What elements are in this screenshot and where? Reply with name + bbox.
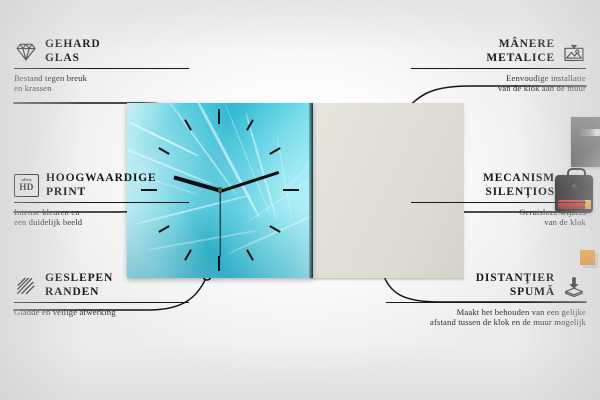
feature-heading: MECANISM SILENŢIOS <box>411 172 586 199</box>
hanger-slot <box>580 129 600 136</box>
feature-subtitle-line2: van de klok aan de muur <box>411 83 586 94</box>
feature-title-line1: GEHARD <box>45 38 101 52</box>
clock-right-edge <box>309 103 313 278</box>
feature-divider <box>411 202 586 203</box>
polished-edges-icon <box>14 275 38 297</box>
feature-subtitle-line2: en krassen <box>14 83 189 94</box>
feature-subtitle-line2: een duidelijk beeld <box>14 217 189 228</box>
feature-title-line2: GLAS <box>45 52 101 66</box>
gear-icon <box>562 175 586 197</box>
feature-title-line1: DISTANŢIER <box>476 272 555 286</box>
feature-subtitle-line1: Eenvoudige installatie <box>411 73 586 84</box>
feature-title-line2: PRINT <box>46 186 157 200</box>
feature-title-line1: GESLEPEN <box>45 272 113 286</box>
feature-heading: GESLEPEN RANDEN <box>14 272 189 299</box>
feature-subtitle-line1: Maakt het behouden van een gelijke <box>386 307 586 318</box>
feature-manere-metalice: MÂNERE METALICE Eenvoudige installatie v… <box>411 38 586 94</box>
picture-frame-hanging-icon <box>562 41 586 63</box>
ultra-hd-icon: ultra HD <box>14 174 39 197</box>
feature-subtitle-line1: Geruisloze wijzers <box>411 207 586 218</box>
feature-gehard-glas: GEHARD GLAS Bestand tegen breuk en krass… <box>14 38 189 94</box>
ultra-hd-icon-bottom: HD <box>19 183 33 192</box>
diamond-icon <box>14 41 38 63</box>
feature-hoogwaardige-print: ultra HD HOOGWAARDIGE PRINT Intense kleu… <box>14 172 189 228</box>
feature-subtitle-line1: Intense kleuren en <box>14 207 189 218</box>
feature-divider <box>14 302 189 303</box>
feature-title-line1: HOOGWAARDIGE <box>46 172 157 186</box>
metal-hanger-part <box>571 117 600 167</box>
feature-divider <box>411 68 586 69</box>
feature-geslepen-randen: GESLEPEN RANDEN Gladde en veilige afwerk… <box>14 272 189 317</box>
feature-distantier-spuma: DISTANŢIER SPUMĂ Maakt het behouden van … <box>386 272 586 328</box>
feature-title-line1: MECANISM <box>483 172 555 186</box>
spacer-arrow-icon <box>562 275 586 297</box>
feature-mecanism-silentios: MECANISM SILENŢIOS Geruisloze wijzers va… <box>411 172 586 228</box>
feature-title-line1: MÂNERE <box>486 38 555 52</box>
feature-divider <box>386 302 586 303</box>
feature-subtitle-line1: Gladde en veilige afwerking <box>14 307 189 318</box>
feature-title-line2: SPUMĂ <box>476 286 555 300</box>
feature-subtitle-line2: afstand tussen de klok en de muur mogeli… <box>386 317 586 328</box>
feature-divider <box>14 202 189 203</box>
feature-heading: DISTANŢIER SPUMĂ <box>386 272 586 299</box>
clock-second-hand <box>219 191 220 257</box>
feature-subtitle-line2: van de klok <box>411 217 586 228</box>
feature-heading: MÂNERE METALICE <box>411 38 586 65</box>
feature-subtitle-line1: Bestand tegen breuk <box>14 73 189 84</box>
feature-title-line2: RANDEN <box>45 286 113 300</box>
infographic-canvas: GEHARD GLAS Bestand tegen breuk en krass… <box>0 0 600 400</box>
feature-divider <box>14 68 189 69</box>
feature-title-line2: SILENŢIOS <box>483 186 555 200</box>
feature-heading: GEHARD GLAS <box>14 38 189 65</box>
foam-spacer-part <box>580 250 595 265</box>
clock-pivot <box>218 188 222 192</box>
feature-title-line2: METALICE <box>486 52 555 66</box>
feature-heading: ultra HD HOOGWAARDIGE PRINT <box>14 172 189 199</box>
